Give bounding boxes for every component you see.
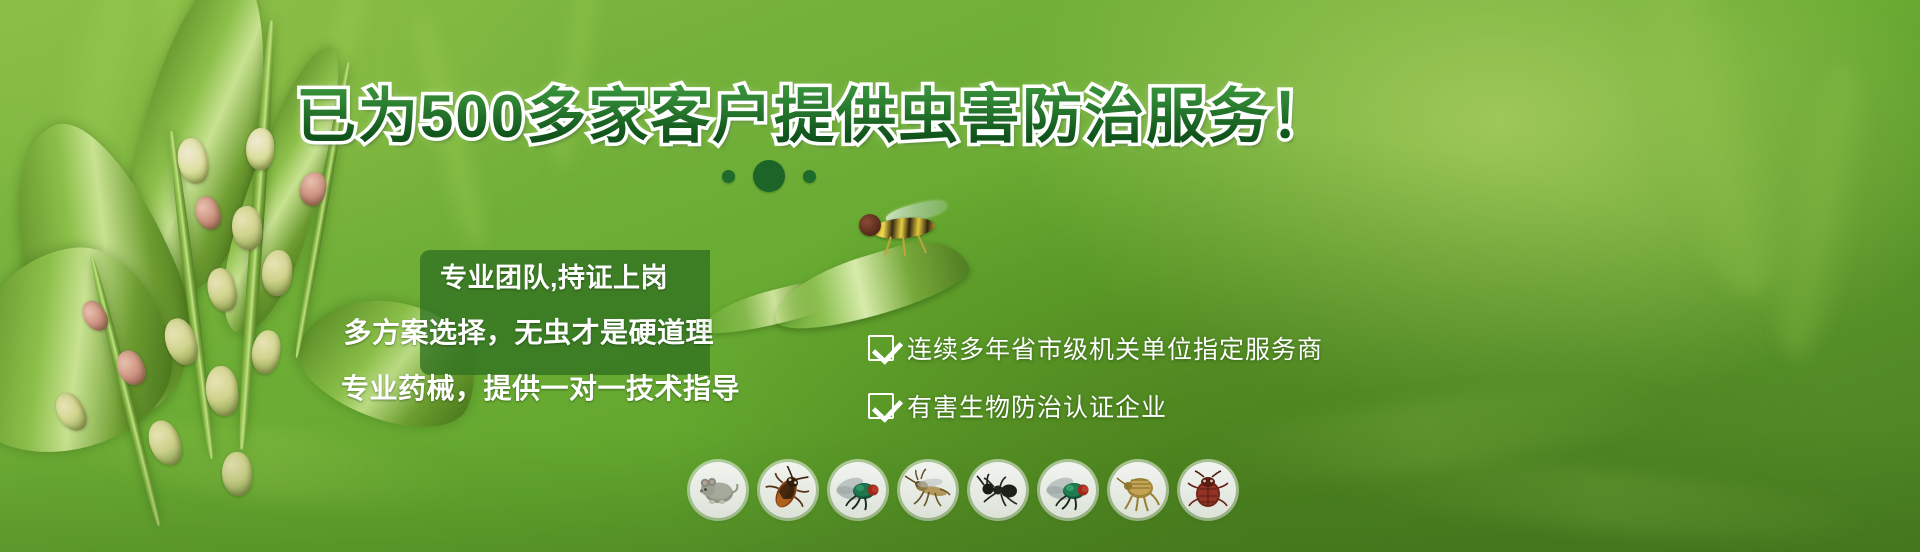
checkbox-checked-icon <box>868 335 894 361</box>
certification-text-1: 连续多年省市级机关单位指定服务商 <box>907 330 1323 366</box>
ant-icon[interactable] <box>970 462 1026 518</box>
decorative-dots <box>722 160 816 192</box>
dot-small-left <box>722 170 735 183</box>
feature-line-2: 多方案选择，无虫才是硬道理 <box>343 311 714 351</box>
feature-panel-lines: 专业团队,持证上岗 多方案选择，无虫才是硬道理 专业药械，提供一对一技术指导 <box>340 256 740 407</box>
checkbox-checked-icon <box>868 393 894 419</box>
mosquito-icon[interactable] <box>900 462 956 518</box>
mouse-icon[interactable] <box>690 462 746 518</box>
hoverfly-icon <box>845 198 965 258</box>
feature-line-1: 专业团队,持证上岗 <box>440 256 668 295</box>
dot-small-right <box>803 170 816 183</box>
fly-icon[interactable] <box>830 462 886 518</box>
list-item: 连续多年省市级机关单位指定服务商 <box>868 330 1323 366</box>
blowfly-icon[interactable] <box>1040 462 1096 518</box>
pest-icon-row <box>690 462 1236 518</box>
feature-line-3: 专业药械，提供一对一技术指导 <box>341 367 740 407</box>
flea-icon[interactable] <box>1110 462 1166 518</box>
list-item: 有害生物防治认证企业 <box>868 388 1323 424</box>
cockroach-icon[interactable] <box>760 462 816 518</box>
headline-fill-layer: 已为500多家客户提供虫害防治服务！ <box>296 80 1332 154</box>
pest-control-banner: 已为500多家客户提供虫害防治服务！ 已为500多家客户提供虫害防治服务！ 专业… <box>0 0 1920 552</box>
bedbug-icon[interactable] <box>1180 462 1236 518</box>
dot-large-center <box>753 160 785 192</box>
certification-text-2: 有害生物防治认证企业 <box>907 388 1167 424</box>
certification-list: 连续多年省市级机关单位指定服务商 有害生物防治认证企业 <box>868 330 1323 424</box>
